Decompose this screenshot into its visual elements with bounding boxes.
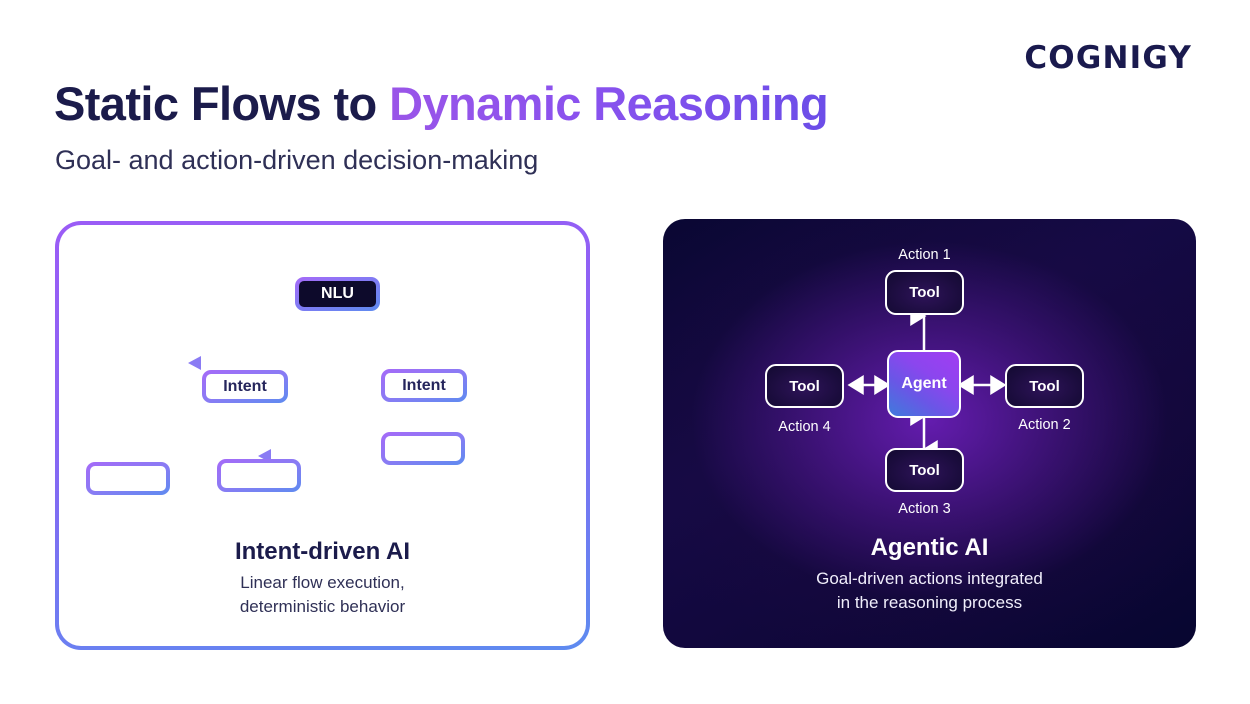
title-gradient-part: Dynamic Reasoning [389,77,828,130]
title-static-part: Static Flows to [54,77,389,130]
page-title: Static Flows to Dynamic Reasoning [54,76,828,132]
node-tool-left[interactable]: Tool [765,364,844,408]
node-intent-2[interactable]: Intent [381,369,467,402]
node-leaf-1[interactable] [86,462,170,495]
action-label-2: Action 2 [1005,417,1084,433]
right-caption-line-2: in the reasoning process [837,593,1022,612]
left-caption-line-1: Linear flow execution, [240,573,404,592]
node-tool-right-label: Tool [1029,378,1060,395]
node-intent-2-label: Intent [402,377,446,395]
node-agent[interactable]: Agent [887,350,961,418]
left-caption-subtitle: Linear flow execution, deterministic beh… [57,571,588,619]
left-panel-caption: Intent-driven AI Linear flow execution, … [57,537,588,619]
agentic-diagram: Agent Tool Action 1 Tool Action 2 Tool A… [663,219,1196,519]
node-tool-bottom[interactable]: Tool [885,448,964,492]
panel-agentic-ai: Agent Tool Action 1 Tool Action 2 Tool A… [663,219,1196,648]
action-label-3: Action 3 [885,501,964,517]
intent-flow-diagram: NLU Intent Intent [57,223,592,523]
node-nlu[interactable]: NLU [295,277,380,311]
node-tool-left-label: Tool [789,378,820,395]
page-subtitle: Goal- and action-driven decision-making [55,142,538,178]
node-intent-1-label: Intent [223,378,267,396]
node-agent-label: Agent [901,375,946,393]
node-tool-top[interactable]: Tool [885,270,964,315]
panel-intent-driven-ai: NLU Intent Intent Intent-driven AI Linea… [55,221,590,650]
node-tool-bottom-label: Tool [909,462,940,479]
right-caption-line-1: Goal-driven actions integrated [816,569,1043,588]
node-tool-right[interactable]: Tool [1005,364,1084,408]
action-label-4: Action 4 [765,419,844,435]
cognigy-logo: COGNIGY [1024,40,1192,76]
node-nlu-label: NLU [321,285,354,303]
node-tool-top-label: Tool [909,284,940,301]
right-panel-caption: Agentic AI Goal-driven actions integrate… [663,533,1196,615]
slide-canvas: COGNIGY Static Flows to Dynamic Reasonin… [0,0,1250,704]
action-label-1: Action 1 [885,247,964,263]
node-leaf-2[interactable] [217,459,301,492]
left-caption-title: Intent-driven AI [57,537,588,567]
left-caption-line-2: deterministic behavior [240,597,405,616]
right-caption-subtitle: Goal-driven actions integrated in the re… [663,567,1196,615]
node-leaf-3[interactable] [381,432,465,465]
node-intent-1[interactable]: Intent [202,370,288,403]
right-caption-title: Agentic AI [663,533,1196,563]
